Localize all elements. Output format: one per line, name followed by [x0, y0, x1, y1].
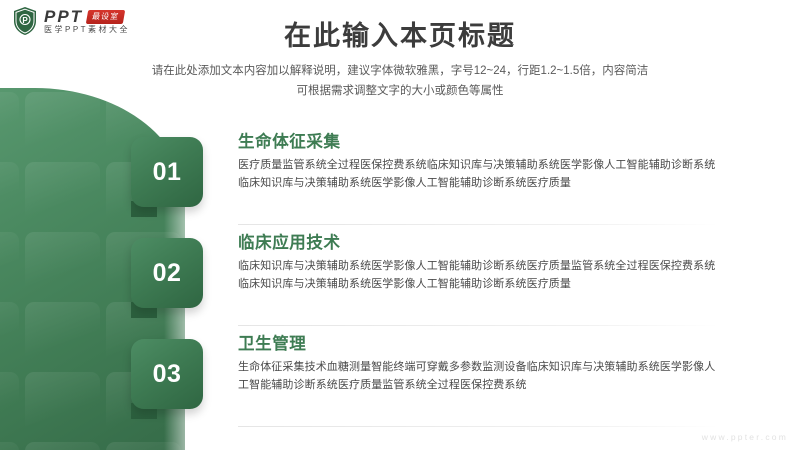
block-divider	[238, 224, 720, 225]
content-block-body: 生命体征采集技术血糖测量智能终端可穿戴多参数监测设备临床知识库与决策辅助系统医学…	[238, 359, 720, 394]
block-divider	[238, 325, 720, 326]
content-block-body: 临床知识库与决策辅助系统医学影像人工智能辅助诊断系统医疗质量监管系统全过程医保控…	[238, 258, 720, 293]
page-subtitle-line-1: 请在此处添加文本内容加以解释说明，建议字体微软雅黑，字号12~24，行距1.2~…	[0, 61, 800, 81]
page-subtitle-line-2: 可根据需求调整文字的大小或颜色等属性	[0, 81, 800, 101]
page-title: 在此输入本页标题	[0, 14, 800, 53]
content-block[interactable]: 02 临床应用技术 临床知识库与决策辅助系统医学影像人工智能辅助诊断系统医疗质量…	[0, 232, 800, 333]
site-watermark: www.ppter.com	[702, 432, 788, 442]
content-block-text: 生命体征采集 医疗质量监管系统全过程医保控费系统临床知识库与决策辅助系统医学影像…	[238, 131, 720, 192]
block-divider	[238, 426, 720, 427]
page-subtitle: 请在此处添加文本内容加以解释说明，建议字体微软雅黑，字号12~24，行距1.2~…	[0, 61, 800, 101]
content-block[interactable]: 01 生命体征采集 医疗质量监管系统全过程医保控费系统临床知识库与决策辅助系统医…	[0, 131, 800, 232]
content-block-text: 临床应用技术 临床知识库与决策辅助系统医学影像人工智能辅助诊断系统医疗质量监管系…	[238, 232, 720, 293]
number-badge-01[interactable]: 01	[131, 137, 203, 207]
content-block-heading: 卫生管理	[238, 333, 720, 355]
grid-tile	[25, 442, 100, 450]
grid-tile	[106, 442, 181, 450]
number-badge-02[interactable]: 02	[131, 238, 203, 308]
grid-tile	[0, 442, 19, 450]
content-block-heading: 临床应用技术	[238, 232, 720, 254]
number-badge-03[interactable]: 03	[131, 339, 203, 409]
content-block[interactable]: 03 卫生管理 生命体征采集技术血糖测量智能终端可穿戴多参数监测设备临床知识库与…	[0, 333, 800, 434]
content-block-text: 卫生管理 生命体征采集技术血糖测量智能终端可穿戴多参数监测设备临床知识库与决策辅…	[238, 333, 720, 394]
content-block-list: 01 生命体征采集 医疗质量监管系统全过程医保控费系统临床知识库与决策辅助系统医…	[0, 131, 800, 434]
content-block-body: 医疗质量监管系统全过程医保控费系统临床知识库与决策辅助系统医学影像人工智能辅助诊…	[238, 157, 720, 192]
content-block-heading: 生命体征采集	[238, 131, 720, 153]
